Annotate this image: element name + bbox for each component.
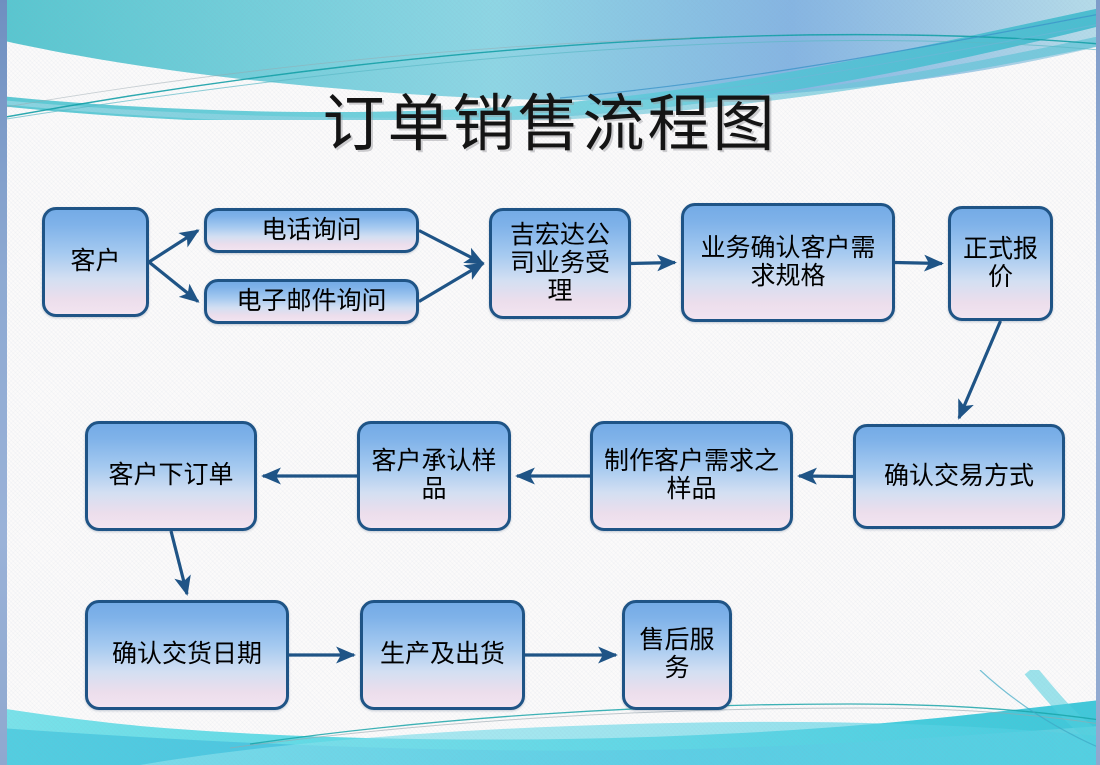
slide-canvas: 订单销售流程图 客户电话询问电子邮件询问吉宏达公司业务受理业务确认客户需求规格正… [0,0,1100,765]
flow-node-customer[interactable]: 客户 [42,207,149,317]
flow-node-make-sample[interactable]: 制作客户需求之样品 [590,421,793,531]
flow-node-confirm-date[interactable]: 确认交货日期 [85,600,289,710]
flow-node-confirm-spec[interactable]: 业务确认客户需求规格 [681,203,895,322]
flow-node-label: 生产及出货 [380,641,505,669]
flow-node-after-sales[interactable]: 售后服务 [622,600,732,710]
flow-node-label: 确认交易方式 [884,463,1034,491]
right-edge-strip [1096,0,1100,765]
flow-node-produce-ship[interactable]: 生产及出货 [360,600,525,710]
flow-edge-customer-to-email-inquiry [149,262,198,302]
flow-node-confirm-trade[interactable]: 确认交易方式 [853,424,1065,529]
flow-node-label: 业务确认客户需求规格 [690,235,886,291]
flow-node-label: 客户承认样品 [366,448,502,504]
flow-node-label: 吉宏达公司业务受理 [498,222,622,306]
flow-node-label: 确认交货日期 [112,641,262,669]
flow-node-label: 正式报价 [957,236,1044,292]
flow-node-label: 售后服务 [631,627,723,683]
flow-edge-place-order-to-confirm-date [171,531,187,594]
flow-edge-phone-inquiry-to-jihongda-accept [419,231,483,264]
flow-edge-customer-to-phone-inquiry [149,231,198,263]
flow-node-phone-inquiry[interactable]: 电话询问 [204,208,419,253]
flow-edge-formal-quote-to-confirm-trade [959,321,1001,418]
page-title: 订单销售流程图 [0,94,1100,156]
flow-node-place-order[interactable]: 客户下订单 [85,421,257,531]
flow-node-label: 电话询问 [261,217,361,245]
flow-node-email-inquiry[interactable]: 电子邮件询问 [204,279,419,324]
left-edge-strip [0,0,7,765]
flow-edge-email-inquiry-to-jihongda-accept [419,264,483,302]
flow-node-approve-sample[interactable]: 客户承认样品 [357,421,511,531]
flow-node-formal-quote[interactable]: 正式报价 [948,206,1053,321]
flow-node-label: 客户下订单 [108,462,233,490]
flow-edge-confirm-trade-to-make-sample [799,476,853,477]
flow-node-label: 电子邮件询问 [236,288,386,316]
flow-edge-jihongda-accept-to-confirm-spec [631,263,675,264]
flow-node-label: 制作客户需求之样品 [599,448,784,504]
flow-node-jihongda-accept[interactable]: 吉宏达公司业务受理 [489,208,631,319]
flow-node-label: 客户 [70,248,120,276]
flow-edge-confirm-spec-to-formal-quote [895,263,942,264]
